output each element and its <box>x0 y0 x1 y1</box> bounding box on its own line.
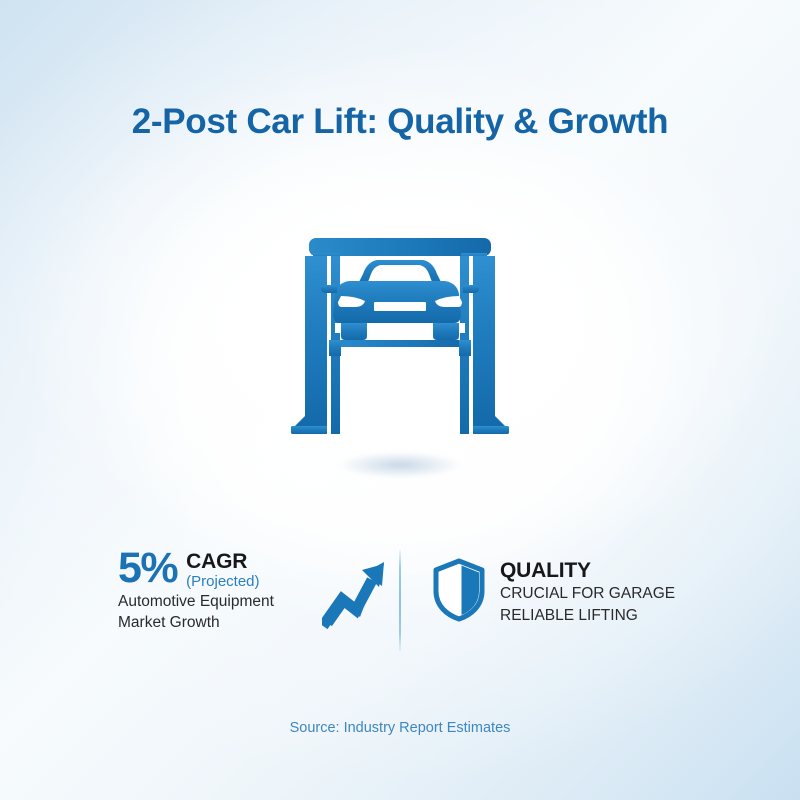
cagr-label: CAGR <box>186 551 259 572</box>
cagr-value: 5% <box>118 548 177 589</box>
quality-text-group: QUALITY CRUCIAL FOR GARAGE RELIABLE LIFT… <box>500 548 675 626</box>
source-note: Source: Industry Report Estimates <box>0 720 800 736</box>
quality-label: QUALITY <box>500 560 675 582</box>
stats-band: 5% CAGR (Projected) Automotive Equipment… <box>0 548 800 660</box>
page-title: 2-Post Car Lift: Quality & Growth <box>0 103 800 142</box>
two-post-car-lift-icon <box>289 222 511 454</box>
shield-icon <box>432 558 486 622</box>
quality-line-2: RELIABLE LIFTING <box>500 606 675 626</box>
cagr-qualifier: (Projected) <box>186 573 259 591</box>
section-divider <box>399 550 401 651</box>
quality-line-1: CRUCIAL FOR GARAGE <box>500 584 675 604</box>
stat-quality: QUALITY CRUCIAL FOR GARAGE RELIABLE LIFT… <box>432 548 697 656</box>
page-title-wrap: 2-Post Car Lift: Quality & Growth <box>0 103 800 142</box>
cagr-label-group: CAGR (Projected) <box>186 548 259 591</box>
infographic-poster: 2-Post Car Lift: Quality & Growth <box>0 0 800 800</box>
growth-arrow-icon <box>322 554 386 632</box>
